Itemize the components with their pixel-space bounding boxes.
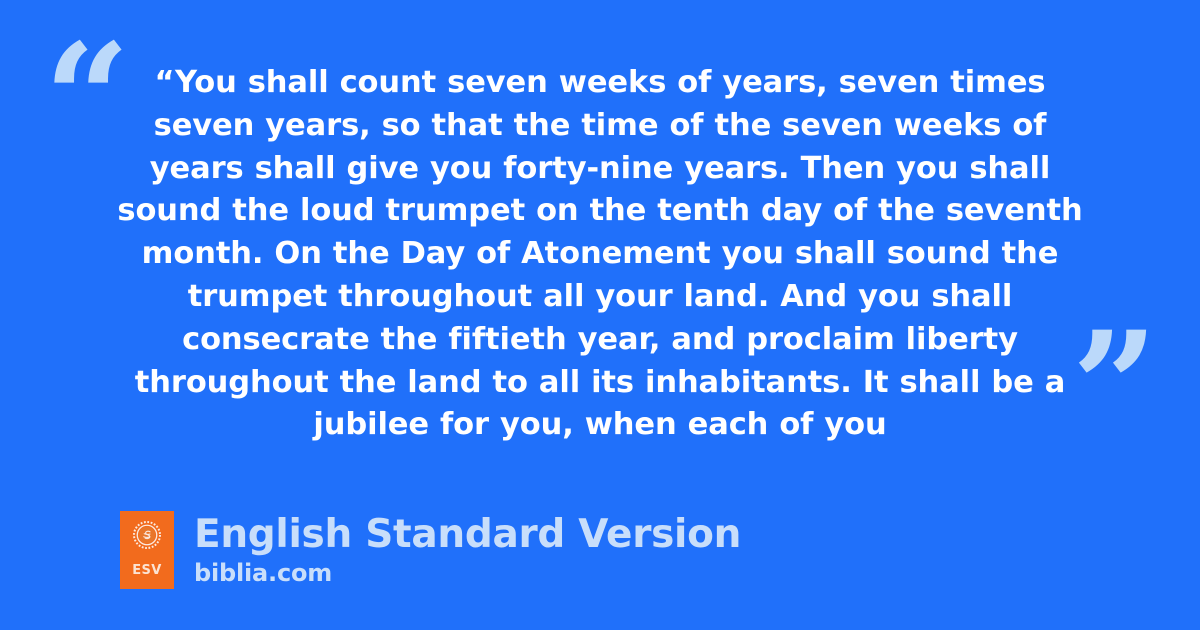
quote-block: “You shall count seven weeks of years, s… [104,62,1096,447]
esv-seal-icon [131,519,163,551]
attribution: ESV English Standard Version biblia.com [120,511,741,589]
esv-logo: ESV [120,511,174,589]
quote-text: “You shall count seven weeks of years, s… [104,62,1096,447]
bible-verse-card: “ “You shall count seven weeks of years,… [0,0,1200,630]
site-name: biblia.com [194,558,741,588]
bible-version-name: English Standard Version [194,512,741,558]
esv-abbreviation-label: ESV [132,564,162,577]
closing-quote-mark-icon: ” [1072,312,1156,462]
attribution-text: English Standard Version biblia.com [194,511,741,588]
